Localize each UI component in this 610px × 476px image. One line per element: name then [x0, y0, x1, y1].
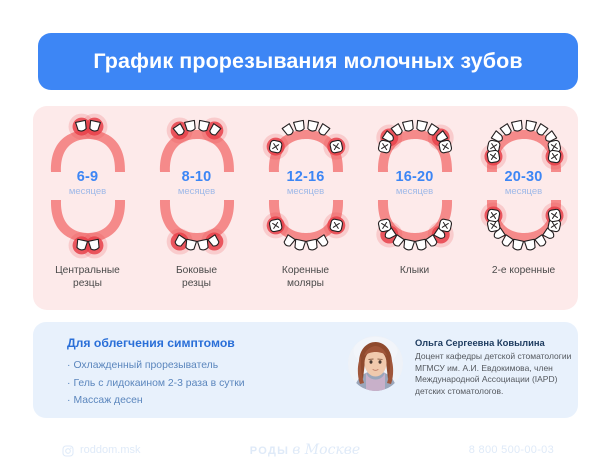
phone-number[interactable]: 8 800 500-00-03 [469, 444, 554, 456]
stage-label: Коренные моляры [251, 264, 360, 290]
tip-label: Гель с лидокаином 2-3 раза в сутки [73, 378, 244, 389]
bullet-icon: · [67, 378, 70, 389]
tips-title: Для облегчения симптомов [67, 336, 317, 350]
symptom-relief-card: Для облегчения симптомов ·Охлажденный пр… [33, 322, 578, 418]
infographic-root: График прорезывания молочных зубов 6-9 м… [0, 0, 610, 476]
tip-item: ·Охлажденный прорезыватель [67, 357, 317, 375]
stage-label: 2-е коренные [469, 264, 578, 277]
stage-2: 8-10 месяцевБоковые резцы [142, 106, 251, 310]
page-title: График прорезывания молочных зубов [93, 49, 522, 74]
gum-arch [159, 130, 233, 242]
doctor-portrait-avatar [348, 336, 403, 391]
stage-label: Центральные резцы [33, 264, 142, 290]
mouth-arch-icon: 6-9 месяцев [38, 118, 138, 254]
tip-item: ·Массаж десен [67, 392, 317, 410]
stage-label: Клыки [360, 264, 469, 277]
bullet-icon: · [67, 360, 70, 371]
doctor-credentials: Ольга Сергеевна Ковылина Доцент кафедры … [415, 336, 571, 397]
stage-4: 16-20 месяцевКлыки [360, 106, 469, 310]
stage-label: Боковые резцы [142, 264, 251, 290]
eruption-timeline-panel: 6-9 месяцевЦентральные резцы 8-10 месяце… [33, 106, 578, 310]
brand-prefix: РОДЫ [250, 445, 289, 457]
doctor-block: Ольга Сергеевна Ковылина Доцент кафедры … [348, 336, 571, 397]
stage-5: 20-30 месяцев2-е коренные [469, 106, 578, 310]
doctor-description: Доцент кафедры детской стоматологии МГМС… [415, 351, 571, 397]
stage-3: 12-16 месяцевКоренные моляры [251, 106, 360, 310]
page-title-bar: График прорезывания молочных зубов [38, 33, 578, 90]
footer: roddom.msk РОДЫв Москве 8 800 500-00-03 [0, 432, 610, 476]
bullet-icon: · [67, 395, 70, 406]
teeth [377, 120, 451, 250]
tips-list: ·Охлажденный прорезыватель·Гель с лидока… [67, 357, 317, 410]
mouth-arch-icon: 16-20 месяцев [365, 118, 465, 254]
gum-arch [50, 130, 124, 242]
mouth-arch-icon: 12-16 месяцев [256, 118, 356, 254]
mouth-arch-icon: 20-30 месяцев [474, 118, 574, 254]
mouth-arch-icon: 8-10 месяцев [147, 118, 247, 254]
stage-list: 6-9 месяцевЦентральные резцы 8-10 месяце… [33, 106, 578, 310]
tip-label: Массаж десен [73, 395, 142, 406]
tip-label: Охлажденный прорезыватель [73, 360, 218, 371]
tips-block: Для облегчения симптомов ·Охлажденный пр… [67, 336, 317, 410]
tip-item: ·Гель с лидокаином 2-3 раза в сутки [67, 375, 317, 393]
teeth [486, 120, 560, 250]
doctor-name: Ольга Сергеевна Ковылина [415, 337, 571, 348]
tooth-highlight-glow [68, 114, 107, 259]
brand-script: в Москве [292, 442, 360, 458]
stage-1: 6-9 месяцевЦентральные резцы [33, 106, 142, 310]
